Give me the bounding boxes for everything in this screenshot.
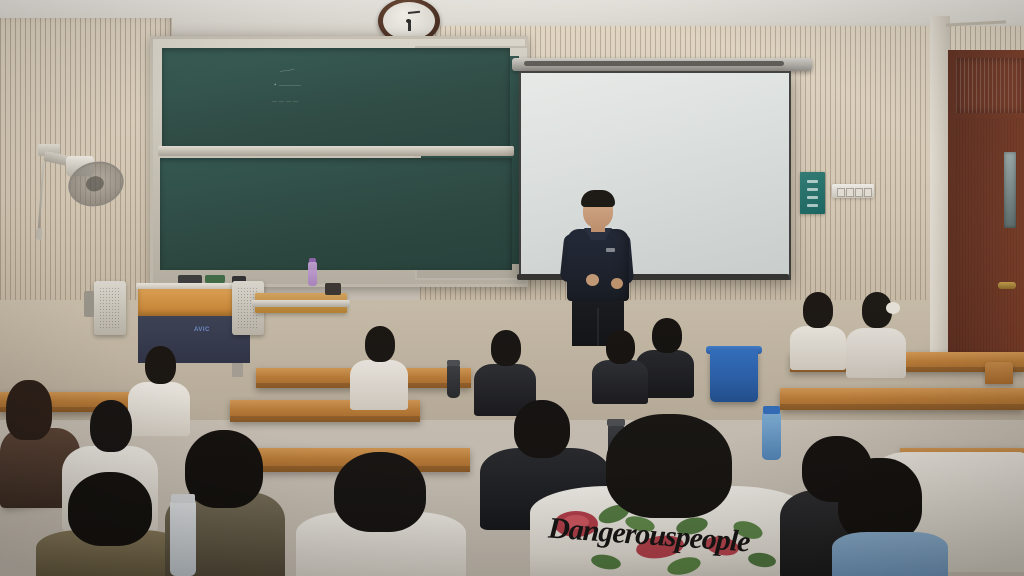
student-back-mid-2 [592,330,648,396]
clock-center-pin [406,19,411,23]
speaker-left [94,281,126,335]
classroom-photo: —— • ——— — — — — EHS职业生涯规划 环保证 污染治理 安全评价… [0,0,1024,576]
student-mid-left-1 [350,326,408,404]
student-front-right-2 [838,458,934,576]
wall-shelf-rail [252,300,350,307]
chalk-rail [158,146,514,156]
fan-cord-weight [36,228,42,240]
water-bottle-clear-cap [171,494,195,503]
thermos-flask-1 [447,364,460,398]
chalk-note-3: — — — — [272,100,299,105]
projector-screen-roller [512,58,812,71]
water-bottle-clear [170,500,196,576]
student-front-left-1 [36,472,186,576]
chalk-note-1: —— [280,65,296,75]
blackboard-lower [160,158,512,270]
student-back-right-1 [846,292,906,372]
presenter-hair [581,190,615,207]
hair-scrunchie [886,302,900,314]
lectern-brand: AVIC [194,327,210,333]
desk-row-right-2 [780,388,1024,410]
seat-back-r1 [985,362,1013,384]
door-transom-window [956,58,1024,113]
presenter-hand-right [611,278,623,289]
blackboard-upper: —— • ——— — — — — [162,48,510,148]
thermos-cap-1 [447,360,460,366]
student-mid-2 [474,330,536,408]
trash-bin [710,350,758,402]
chalk-note-2: • ——— [274,81,301,89]
wall-sign [800,172,825,214]
student-front-graphic-shirt: Dangerouspeople [530,424,810,576]
blackboard-eraser-2 [205,275,225,283]
purple-bottle [308,262,317,286]
black-remote-box [325,283,341,295]
door-glass-strip [1004,152,1016,228]
presenter-hand-left [586,274,599,286]
wall-right-edge [930,16,950,356]
water-bottle-blue-cap [763,406,780,414]
light-switch-panel[interactable] [832,184,874,198]
wall-fan [22,140,122,235]
presenter-shirt-logo [606,248,615,252]
fan-pull-cord[interactable] [38,162,45,232]
presenter [556,190,640,345]
student-back-right-2 [790,292,846,362]
door-handle[interactable] [998,282,1016,289]
student-front-mid-white [296,452,466,576]
